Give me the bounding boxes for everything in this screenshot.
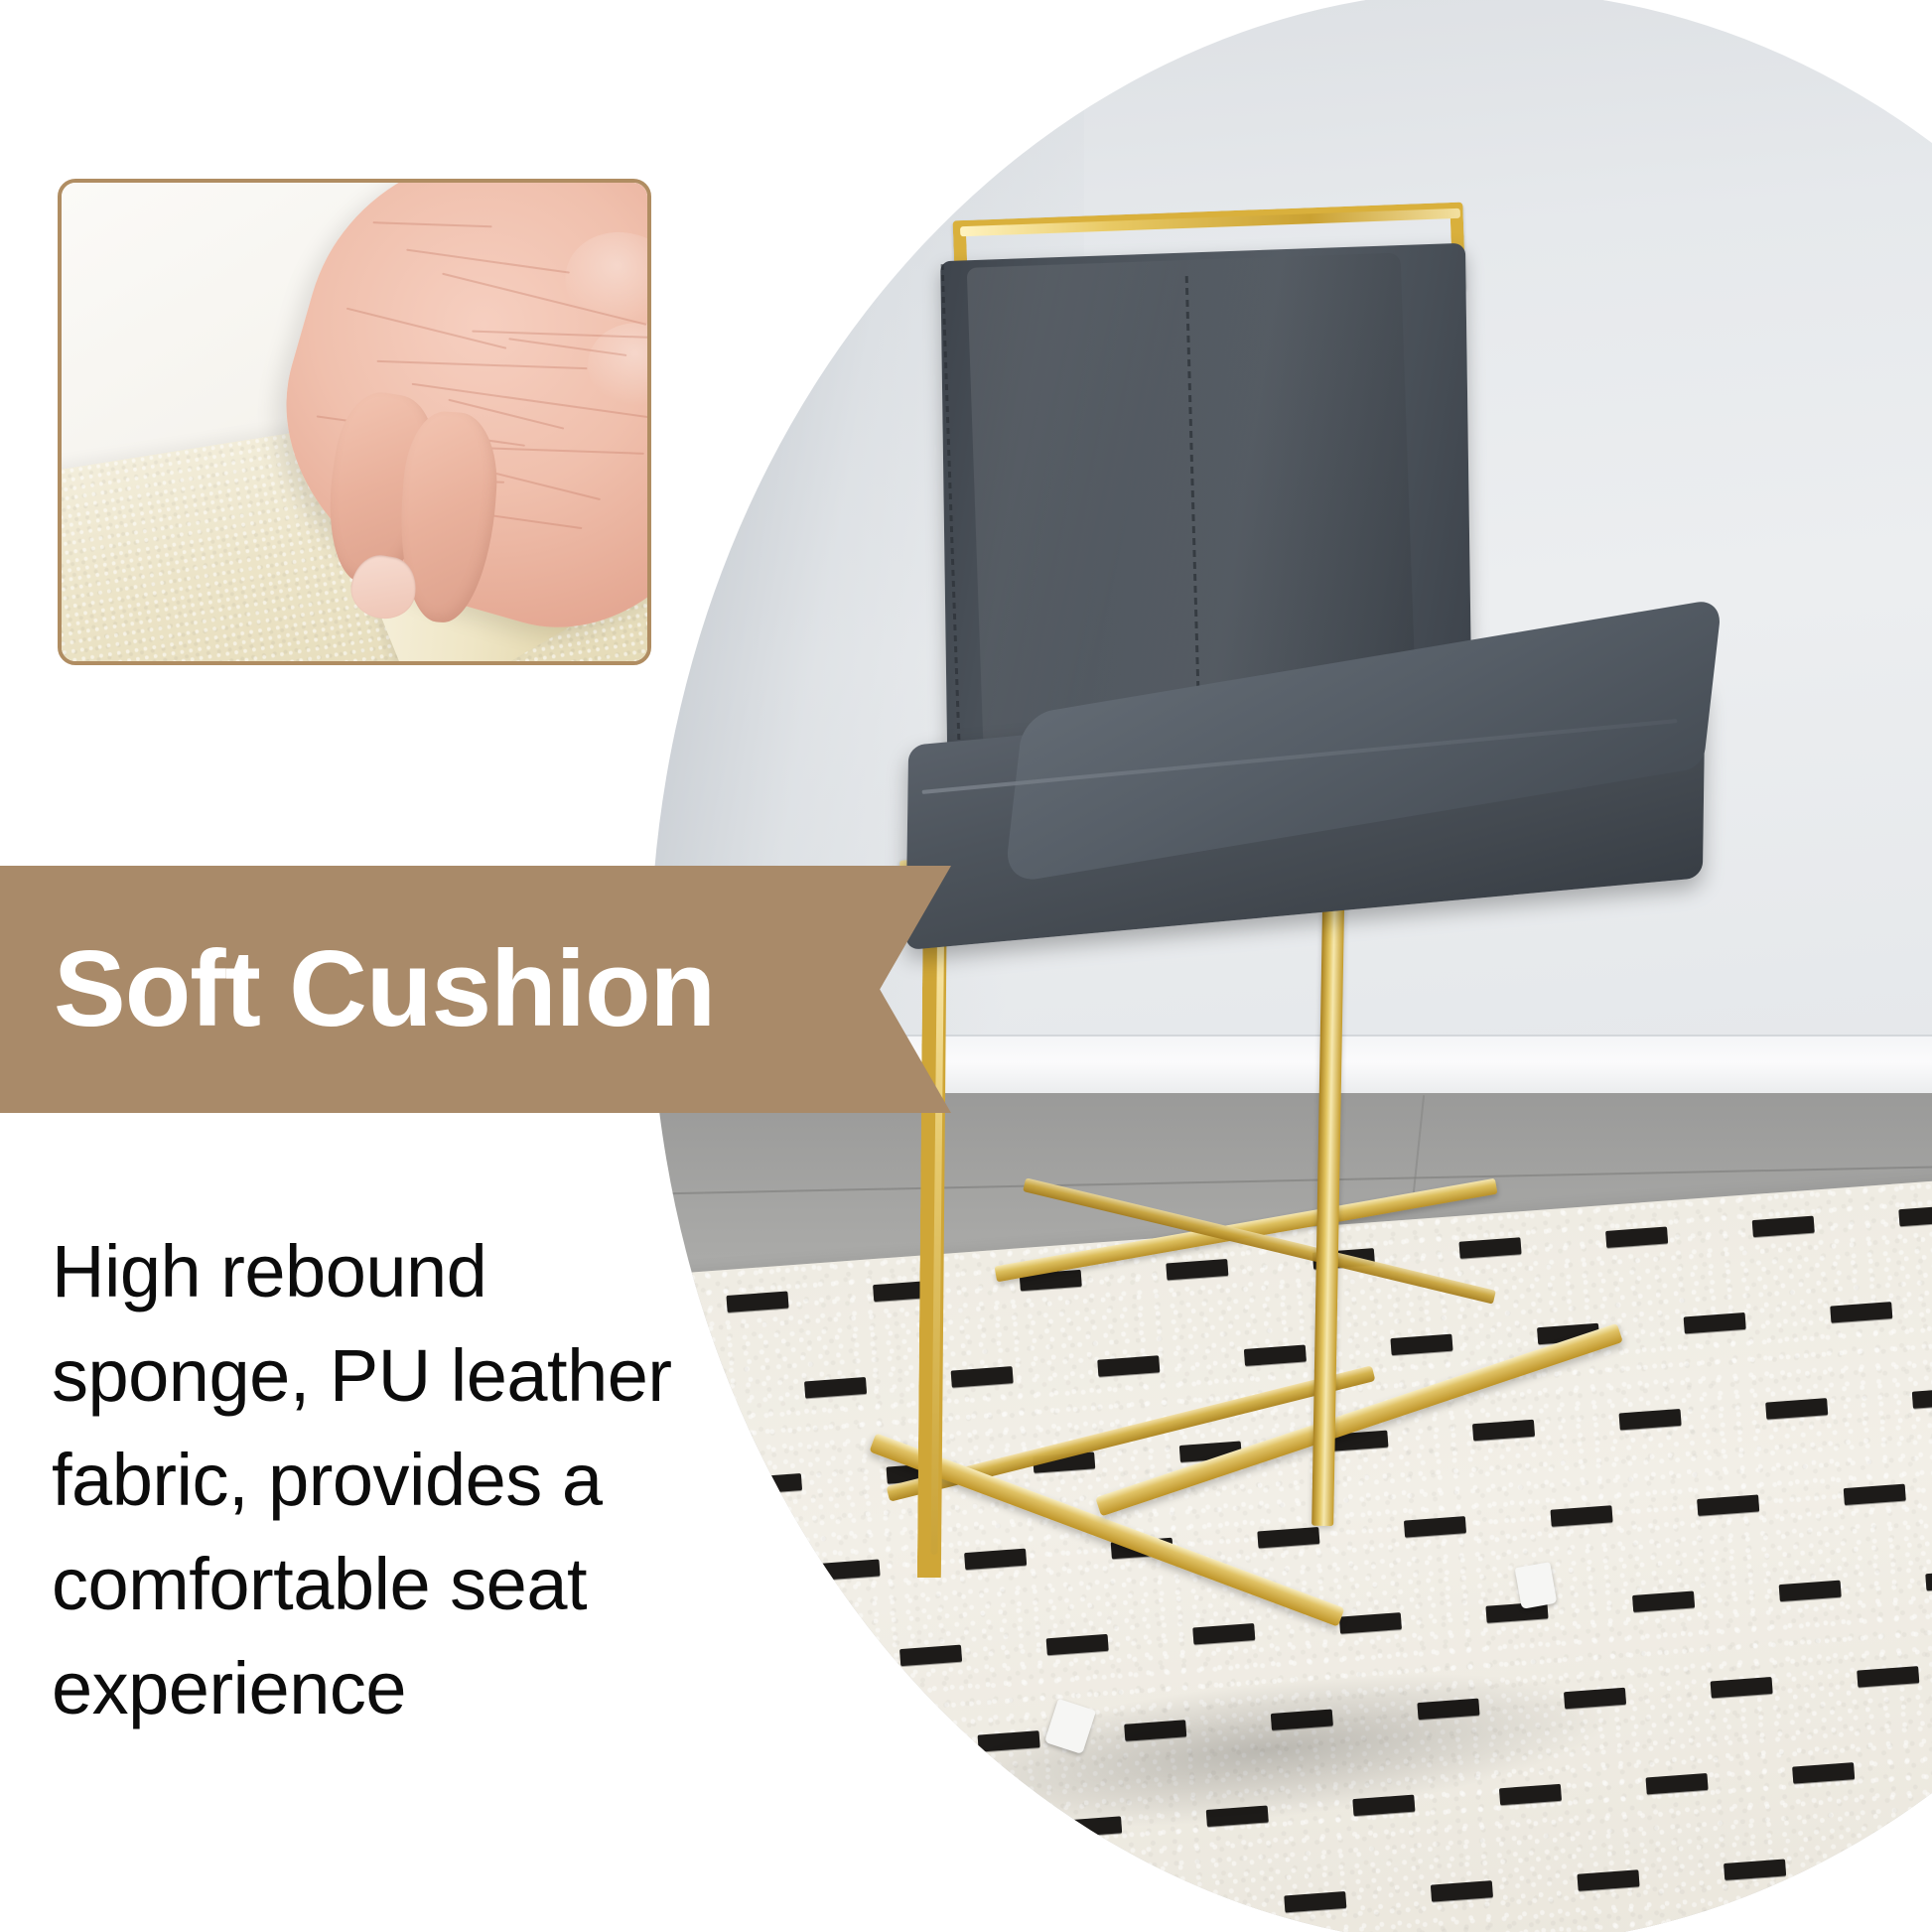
feature-banner: Soft Cushion	[0, 866, 951, 1113]
skin-crease	[372, 221, 491, 227]
description-line: fabric, provides a	[52, 1428, 747, 1532]
description-line: comfortable seat	[52, 1532, 747, 1636]
chair-floor-glide	[1514, 1562, 1557, 1609]
feature-description: High rebound sponge, PU leather fabric, …	[52, 1219, 747, 1740]
chair-contact-shadow	[912, 1646, 1623, 1856]
description-line: High rebound	[52, 1219, 747, 1323]
banner-title: Soft Cushion	[54, 935, 715, 1043]
description-line: experience	[52, 1636, 747, 1740]
chair-front-cantilever-leg	[917, 854, 1141, 1580]
marketing-canvas: Soft Cushion High rebound sponge, PU lea…	[0, 0, 1932, 1932]
foam-detail-inset-photo	[58, 179, 651, 665]
skin-crease	[377, 360, 588, 369]
skin-crease	[346, 307, 506, 348]
skin-crease	[480, 447, 644, 455]
description-line: sponge, PU leather	[52, 1323, 747, 1428]
skin-crease	[406, 249, 569, 274]
